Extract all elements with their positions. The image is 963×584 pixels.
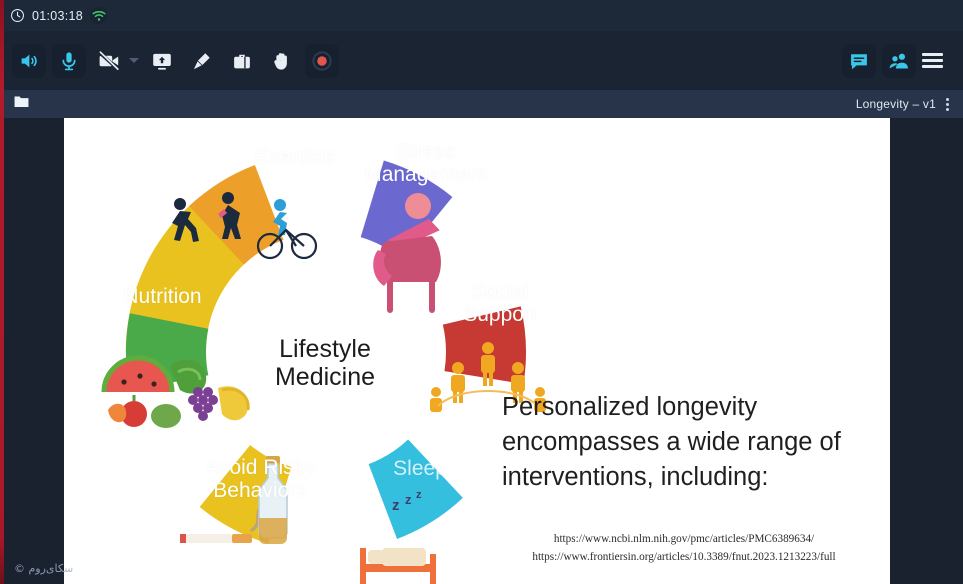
record-icon xyxy=(311,50,333,72)
files-button[interactable] xyxy=(225,44,259,78)
svg-text:z: z xyxy=(405,492,412,507)
citation-link-1: https://www.ncbi.nlm.nih.gov/pmc/article… xyxy=(484,530,884,548)
hamburger-line xyxy=(922,65,943,68)
wifi-signal-icon xyxy=(90,7,107,24)
left-edge-strip xyxy=(0,0,4,584)
svg-text:z: z xyxy=(392,497,400,514)
participants-button[interactable] xyxy=(882,44,916,78)
camera-off-icon xyxy=(97,49,121,73)
whiteboard-pen-button[interactable] xyxy=(185,44,219,78)
lifestyle-medicine-wheel: z z z Nutrit xyxy=(70,120,582,584)
citation-link-2: https://www.frontiersin.org/articles/10.… xyxy=(484,548,884,566)
meeting-toolbar xyxy=(4,31,963,90)
skyroom-meeting-window: 01:03:18 xyxy=(0,0,963,584)
people-icon xyxy=(888,50,910,72)
screen-share-button[interactable] xyxy=(145,44,179,78)
document-title: Longevity – v1 xyxy=(856,97,936,111)
slide-stage: z z z Nutrit xyxy=(4,118,963,584)
more-vertical-icon[interactable] xyxy=(944,96,951,113)
brush-icon xyxy=(191,50,213,72)
record-button[interactable] xyxy=(305,44,339,78)
speaker-icon xyxy=(18,50,40,72)
briefcase-icon xyxy=(231,50,253,72)
skyroom-watermark: سکای‌روم © xyxy=(14,562,73,575)
chat-bubble-icon xyxy=(848,50,870,72)
menu-button[interactable] xyxy=(922,53,943,68)
svg-text:z: z xyxy=(416,489,422,501)
document-bar-right: Longevity – v1 xyxy=(856,96,963,113)
folder-icon[interactable] xyxy=(13,94,30,114)
camera-button[interactable] xyxy=(92,44,126,78)
hamburger-line xyxy=(922,59,943,62)
chevron-down-icon[interactable] xyxy=(129,58,139,63)
kebab-dot xyxy=(946,98,949,101)
slide-body-text: Personalized longevity encompasses a wid… xyxy=(502,390,870,496)
document-bar-left xyxy=(4,94,30,114)
speaker-button[interactable] xyxy=(12,44,46,78)
toolbar-right-group xyxy=(842,44,963,78)
kebab-dot xyxy=(946,103,949,106)
hamburger-menu-icon xyxy=(922,53,943,56)
chat-button[interactable] xyxy=(842,44,876,78)
microphone-icon xyxy=(58,50,80,72)
microphone-button[interactable] xyxy=(52,44,86,78)
presentation-slide[interactable]: z z z Nutrit xyxy=(64,118,890,584)
toolbar-left-group xyxy=(4,44,339,78)
session-timer: 01:03:18 xyxy=(32,9,83,23)
raise-hand-button[interactable] xyxy=(265,44,299,78)
clock-icon xyxy=(10,8,25,23)
slide-citations: https://www.ncbi.nlm.nih.gov/pmc/article… xyxy=(484,530,884,567)
bed-sleeping-icon xyxy=(360,548,436,584)
status-bar: 01:03:18 xyxy=(0,0,963,31)
screen-share-icon xyxy=(151,50,173,72)
camera-control-group xyxy=(92,44,139,78)
raised-hand-icon xyxy=(271,50,293,72)
document-bar: Longevity – v1 xyxy=(4,90,963,118)
kebab-dot xyxy=(946,108,949,111)
